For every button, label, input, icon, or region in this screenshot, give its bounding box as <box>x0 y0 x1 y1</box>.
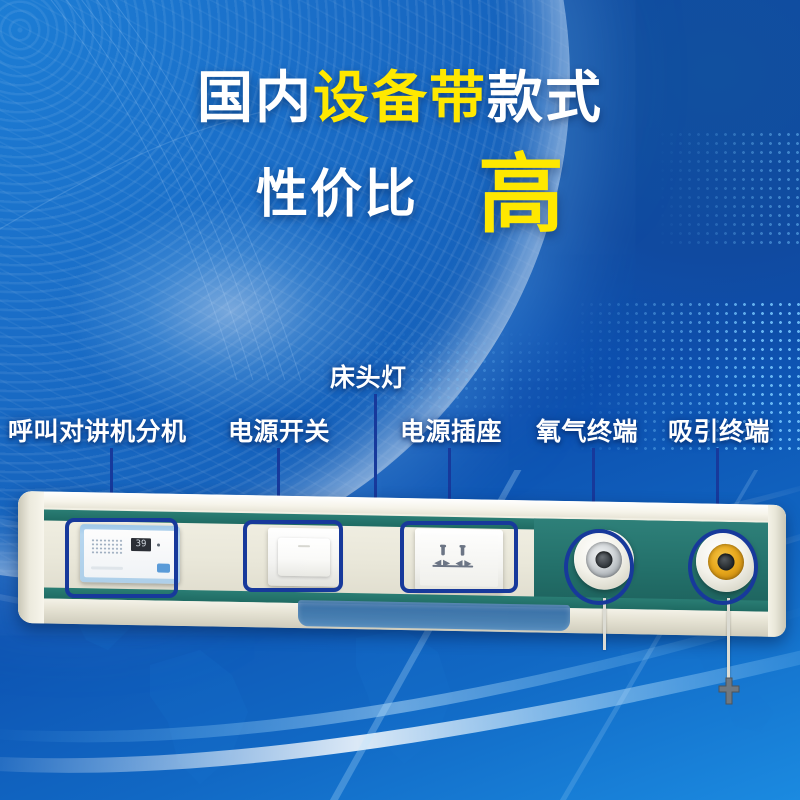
annotation-box-intercom <box>65 518 178 598</box>
callout-label-switch: 电源开关 <box>228 412 330 448</box>
oxygen-pull-cord[interactable] <box>603 598 606 650</box>
headline-line2-yellow: 高 <box>478 152 564 238</box>
headline-line-2: 性价比 高 <box>0 152 800 238</box>
headline-line1-white-a: 国内 <box>197 66 313 129</box>
callout-label-bedlamp: 床头灯 <box>330 358 407 394</box>
callout-label-suction: 吸引终端 <box>668 412 770 448</box>
callout-label-socket: 电源插座 <box>400 412 502 448</box>
panel-left-end-cap <box>18 491 44 623</box>
bed-lamp-diffuser[interactable] <box>298 600 570 631</box>
headline-line1-yellow: 设备带 <box>313 66 487 129</box>
promotional-banner: 国内设备带款式 性价比 高 呼叫对讲机分机 电源开关 床头灯 电源插座 氧气终端… <box>0 0 800 800</box>
annotation-circle-suction <box>688 529 758 605</box>
annotation-box-socket <box>400 521 518 593</box>
headline-line-1: 国内设备带款式 <box>0 70 800 126</box>
suction-pull-cord[interactable] <box>727 598 730 686</box>
callout-label-oxygen: 氧气终端 <box>536 412 638 448</box>
headline-line2-white: 性价比 <box>256 169 418 221</box>
annotation-box-switch <box>243 520 343 592</box>
callout-label-intercom: 呼叫对讲机分机 <box>8 412 187 448</box>
headline-block: 国内设备带款式 性价比 高 <box>0 70 800 238</box>
annotation-circle-oxygen <box>564 529 634 605</box>
headline-line1-white-b: 款式 <box>487 66 603 129</box>
pull-cord-handle-icon[interactable] <box>716 676 742 706</box>
panel-right-end-cap <box>768 505 786 637</box>
